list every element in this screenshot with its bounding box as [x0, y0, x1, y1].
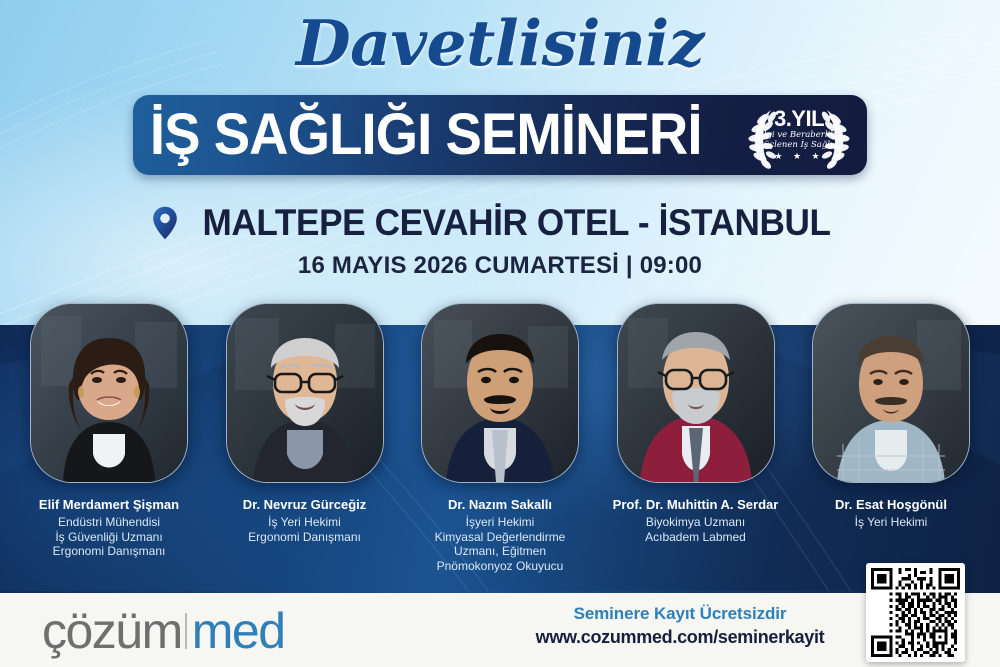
avatar	[617, 303, 775, 483]
speaker-role: İşyeri Hekimi Kimyasal Değerlendirme Uzm…	[435, 515, 566, 573]
speaker-name: Dr. Esat Hoşgönül	[835, 497, 947, 512]
speaker-card: Dr. Nevruz Gürceğiz İş Yeri Hekimi Ergon…	[212, 303, 398, 593]
seminar-title: İŞ SAĞLIĞI SEMİNERİ	[133, 103, 705, 167]
registration-heading: Seminere Kayıt Ücretsizdir	[500, 603, 860, 625]
logo-divider	[185, 613, 187, 649]
logo-text-cozum: çözüm	[42, 605, 182, 657]
speaker-card: Prof. Dr. Muhittin A. Serdar Biyokimya U…	[603, 303, 789, 593]
speaker-card: Elif Merdamert Şişman Endüstri Mühendisi…	[16, 303, 202, 593]
seminar-invitation-poster: Davetlisiniz İŞ SAĞLIĞI SEMİNERİ	[0, 0, 1000, 667]
speaker-photo-5	[813, 304, 969, 482]
speaker-name: Dr. Nevruz Gürceğiz	[243, 497, 367, 512]
speaker-photo-4	[618, 304, 774, 482]
page-title: Davetlisiniz	[0, 12, 1000, 75]
qr-code-icon[interactable]	[866, 563, 965, 662]
logo-text-med: med	[192, 605, 285, 657]
speaker-role: Biyokimya Uzmanı Acıbadem Labmed	[645, 515, 746, 544]
speaker-name: Prof. Dr. Muhittin A. Serdar	[613, 497, 779, 512]
speaker-role: Endüstri Mühendisi İş Güvenliği Uzmanı E…	[53, 515, 166, 559]
speaker-name: Dr. Nazım Sakallı	[448, 497, 552, 512]
speaker-card: Dr. Esat Hoşgönül İş Yeri Hekimi	[798, 303, 984, 593]
avatar	[421, 303, 579, 483]
registration-url[interactable]: www.cozummed.com/seminerkayit	[500, 625, 860, 649]
anniversary-badge: 3.YIL Bilgi ve Beraberlikle Güçlenen İş …	[741, 98, 857, 172]
qr-code-matrix	[871, 568, 960, 657]
venue-row: MALTEPE CEVAHİR OTEL - İSTANBUL	[0, 202, 1000, 244]
speaker-card: Dr. Nazım Sakallı İşyeri Hekimi Kimyasal…	[407, 303, 593, 593]
speaker-photo-3	[422, 304, 578, 482]
event-datetime: 16 MAYIS 2026 CUMARTESİ | 09:00	[0, 252, 1000, 280]
speaker-name: Elif Merdamert Şişman	[39, 497, 179, 512]
speaker-role: İş Yeri Hekimi	[855, 515, 928, 530]
laurel-wreath-icon	[741, 102, 857, 170]
speakers-list: Elif Merdamert Şişman Endüstri Mühendisi…	[0, 303, 1000, 593]
seminar-title-banner: İŞ SAĞLIĞI SEMİNERİ	[133, 95, 867, 175]
registration-info: Seminere Kayıt Ücretsizdir www.cozummed.…	[500, 603, 860, 649]
avatar	[812, 303, 970, 483]
avatar	[226, 303, 384, 483]
speaker-role: İş Yeri Hekimi Ergonomi Danışmanı	[248, 515, 361, 544]
speaker-photo-2	[227, 304, 383, 482]
location-pin-icon	[152, 206, 178, 240]
venue-name: MALTEPE CEVAHİR OTEL - İSTANBUL	[203, 202, 831, 244]
speaker-photo-1	[31, 304, 187, 482]
cozummed-logo[interactable]: çözüm med	[42, 605, 285, 657]
avatar	[30, 303, 188, 483]
